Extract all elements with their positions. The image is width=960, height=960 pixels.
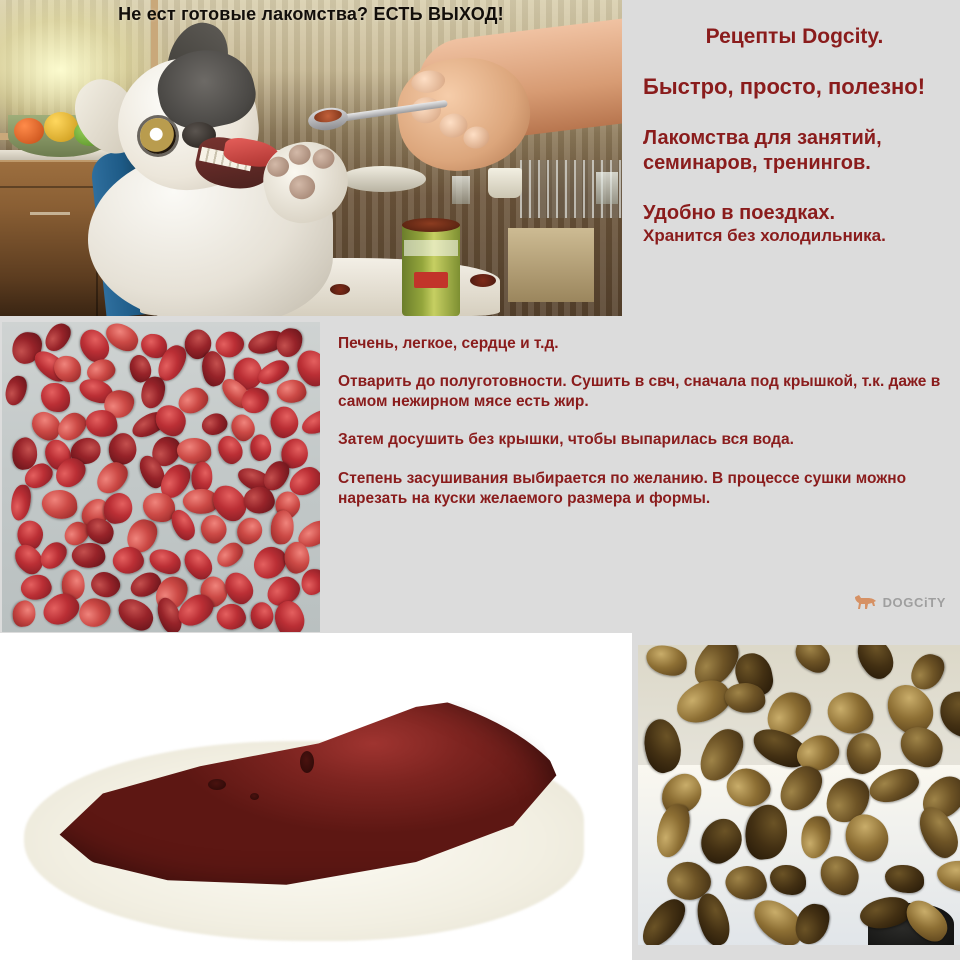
raw-liver-photo [0,633,632,960]
dried-treat-piece [790,645,835,676]
dried-treat-piece [849,645,902,685]
dog-feeding-photo: Не ест готовые лакомства? ЕСТЬ ВЫХОД! [0,0,622,316]
raw-meat-chunk [10,483,32,521]
headline-title: Рецепты Dogcity. [643,24,946,50]
dried-treat-piece [821,684,878,741]
raw-meat-chunk [274,377,308,406]
raw-meat-chunk [36,538,70,574]
watermark-text: DOGCiTY [883,595,946,610]
dogcity-watermark: DOGCiTY [854,594,946,610]
recipe-collage: Не ест готовые лакомства? ЕСТЬ ВЫХОД! Ре… [0,0,960,960]
raw-meat-chunk [11,599,37,628]
drinking-glass [596,172,618,204]
raw-meat-chunk [270,510,294,545]
raw-meat-chunk [298,404,320,439]
drinking-glass [452,176,470,204]
can-label [404,240,458,256]
raw-meat-chunk [4,374,29,407]
dried-treats-photo [638,645,960,945]
instruction-step-2: Затем досушить без крышки, чтобы выпарил… [338,430,946,450]
raw-meat-chunk [113,594,158,632]
instructions-panel: Печень, легкое, сердце и т.д. Отварить д… [325,322,960,632]
instruction-step-1: Отварить до полуготовности. Сушить в свч… [338,372,946,412]
can-badge [414,272,448,288]
dog-eye [140,118,176,154]
canned-dog-food [402,222,460,316]
raw-meat-chunk [41,383,70,413]
headline-tagline: Быстро, просто, полезно! [643,74,946,101]
dog-photo-caption: Не ест готовые лакомства? ЕСТЬ ВЫХОД! [0,4,622,25]
headline-usecase-line2: семинаров, тренингов. [643,151,946,175]
raw-meat-chunk [190,461,213,492]
headline-travel: Удобно в поездках. [643,201,946,225]
liver-vein [300,751,314,773]
stacked-plates [340,166,426,192]
dog-silhouette-icon [854,594,878,610]
raw-meat-chunk [40,489,77,521]
headline-storage: Хранится без холодильника. [643,226,946,247]
dried-treat-piece [644,645,688,677]
can-opening [402,218,460,232]
instruction-step-3: Степень засушивания выбирается по желани… [338,469,946,509]
headline-panel: Рецепты Dogcity. Быстро, просто, полезно… [625,0,960,316]
headline-usecase-line1: Лакомства для занятий, [643,126,946,150]
headline-usecase: Лакомства для занятий, семинаров, тренин… [643,126,946,175]
instruction-ingredients: Печень, легкое, сердце и т.д. [338,334,946,354]
raw-offal-photo [2,322,320,632]
raw-meat-chunk [218,567,258,608]
raw-meat-chunk [301,569,320,596]
liver-vein [208,779,226,790]
raw-meat-chunk [264,402,303,442]
paper-bag [508,228,594,302]
coffee-mug [488,168,522,198]
raw-meat-chunk [75,594,112,631]
raw-meat-chunk [176,436,213,465]
liver-vein [250,793,259,800]
